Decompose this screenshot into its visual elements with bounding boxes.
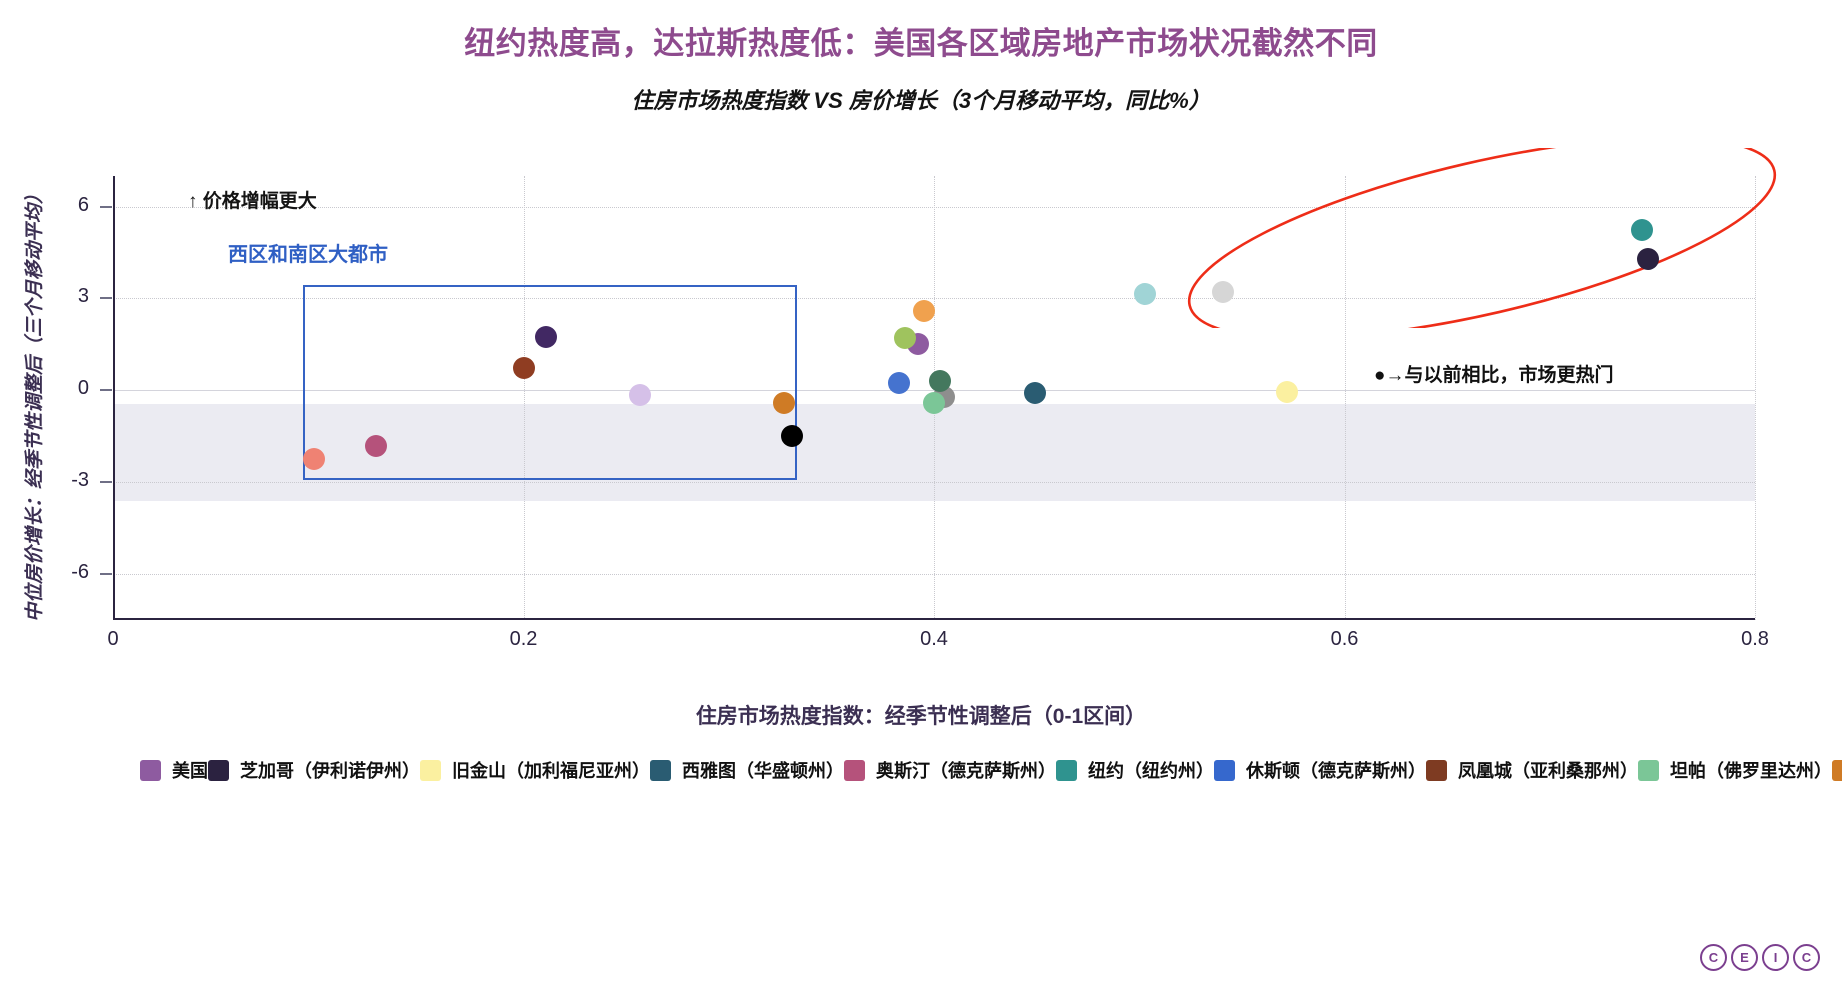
scatter-point[interactable] <box>781 425 803 447</box>
scatter-point[interactable] <box>1024 382 1046 404</box>
hotter-market-note: ●→与以前相比，市场更热门 <box>1374 360 1613 387</box>
y-tick-label: -3 <box>27 469 89 492</box>
legend-item[interactable]: 西雅图（华盛顿州） <box>650 755 844 786</box>
legend: 美国芝加哥（伊利诺伊州）旧金山（加利福尼亚州）西雅图（华盛顿州）奥斯汀（德克萨斯… <box>140 755 1760 786</box>
x-tick-label: 0.8 <box>1720 628 1790 651</box>
legend-label: 凤凰城（亚利桑那州） <box>1458 757 1638 783</box>
legend-label: 芝加哥（伊利诺伊州） <box>240 757 420 783</box>
legend-item[interactable]: 休斯顿（德克萨斯州） <box>1214 755 1426 786</box>
legend-swatch <box>420 760 441 781</box>
scatter-point[interactable] <box>1637 248 1659 270</box>
higher-price-growth-note: ↑ 价格增幅更大 <box>188 186 317 213</box>
legend-item[interactable]: 凤凰城（亚利桑那州） <box>1426 755 1638 786</box>
chart-root: 纽约热度高，达拉斯热度低：美国各区域房地产市场状况截然不同 住房市场热度指数 V… <box>0 0 1842 990</box>
west-south-metros-label: 西区和南区大都市 <box>228 238 388 267</box>
legend-swatch <box>1638 760 1659 781</box>
legend-label: 休斯顿（德克萨斯州） <box>1246 757 1426 783</box>
legend-swatch <box>650 760 671 781</box>
chart-title: 纽约热度高，达拉斯热度低：美国各区域房地产市场状况截然不同 <box>0 18 1842 63</box>
x-tick-label: 0.6 <box>1310 628 1380 651</box>
scatter-point[interactable] <box>929 370 951 392</box>
y-axis-line <box>113 176 115 620</box>
hot-cluster-ellipse <box>1177 148 1787 328</box>
scatter-point[interactable] <box>923 392 945 414</box>
ceic-logo-letter: I <box>1762 944 1789 971</box>
legend-label: 奥斯汀（德克萨斯州） <box>876 757 1056 783</box>
scatter-point[interactable] <box>303 448 325 470</box>
scatter-point[interactable] <box>629 384 651 406</box>
x-tick-label: 0.2 <box>489 628 559 651</box>
scatter-point[interactable] <box>913 300 935 322</box>
legend-label: 美国 <box>172 757 208 783</box>
scatter-point[interactable] <box>1134 283 1156 305</box>
legend-swatch <box>140 760 161 781</box>
legend-item[interactable]: 纽约（纽约州） <box>1056 755 1214 786</box>
chart-subtitle: 住房市场热度指数 VS 房价增长（3个月移动平均，同比%） <box>0 83 1842 115</box>
y-tick-label: -6 <box>27 561 89 584</box>
legend-swatch <box>844 760 865 781</box>
gridline-vertical <box>1755 176 1756 620</box>
scatter-point[interactable] <box>1276 381 1298 403</box>
y-tick-mark <box>100 389 112 391</box>
x-tick-label: 0 <box>78 628 148 651</box>
legend-item[interactable]: 拉斯维加斯（内华达州） <box>1832 755 1842 786</box>
y-tick-mark <box>100 297 112 299</box>
gridline-vertical <box>1345 176 1346 620</box>
scatter-point[interactable] <box>1212 281 1234 303</box>
y-tick-label: 0 <box>27 377 89 400</box>
legend-label: 西雅图（华盛顿州） <box>682 757 844 783</box>
ceic-logo: CEIC <box>1700 944 1820 971</box>
ceic-logo-letter: E <box>1731 944 1758 971</box>
x-tick-label: 0.4 <box>899 628 969 651</box>
scatter-point[interactable] <box>513 357 535 379</box>
scatter-point[interactable] <box>888 372 910 394</box>
legend-item[interactable]: 美国 <box>140 755 208 786</box>
legend-item[interactable]: 奥斯汀（德克萨斯州） <box>844 755 1056 786</box>
scatter-point[interactable] <box>535 326 557 348</box>
x-axis-title: 住房市场热度指数：经季节性调整后（0-1区间） <box>0 700 1842 730</box>
legend-item[interactable]: 旧金山（加利福尼亚州） <box>420 755 650 786</box>
y-tick-label: 6 <box>27 194 89 217</box>
legend-label: 旧金山（加利福尼亚州） <box>452 757 650 783</box>
y-tick-mark <box>100 481 112 483</box>
y-tick-mark <box>100 573 112 575</box>
scatter-point[interactable] <box>894 327 916 349</box>
legend-swatch <box>1426 760 1447 781</box>
scatter-point[interactable] <box>365 435 387 457</box>
x-axis-line <box>113 618 1755 620</box>
legend-item[interactable]: 坦帕（佛罗里达州） <box>1638 755 1832 786</box>
ceic-logo-letter: C <box>1700 944 1727 971</box>
legend-swatch <box>1214 760 1235 781</box>
legend-label: 纽约（纽约州） <box>1088 757 1214 783</box>
scatter-point[interactable] <box>773 392 795 414</box>
legend-swatch <box>208 760 229 781</box>
ceic-logo-letter: C <box>1793 944 1820 971</box>
legend-swatch <box>1832 760 1842 781</box>
legend-item[interactable]: 芝加哥（伊利诺伊州） <box>208 755 420 786</box>
legend-label: 坦帕（佛罗里达州） <box>1670 757 1832 783</box>
y-tick-label: 3 <box>27 285 89 308</box>
scatter-point[interactable] <box>1631 219 1653 241</box>
legend-swatch <box>1056 760 1077 781</box>
y-tick-mark <box>100 206 112 208</box>
